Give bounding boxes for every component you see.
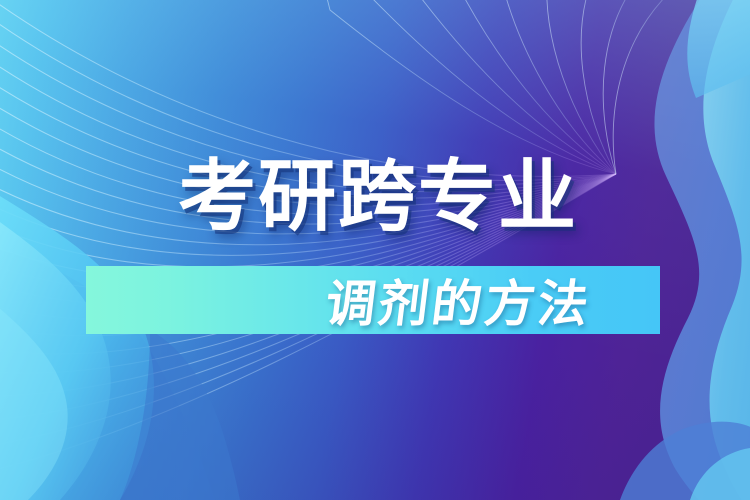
wave-svg bbox=[0, 0, 750, 500]
wave-decoration bbox=[0, 0, 750, 500]
promo-banner: 考研跨专业 调剂的方法 bbox=[0, 0, 750, 500]
banner-title: 考研跨专业 bbox=[0, 148, 750, 244]
right-wave-group bbox=[620, 0, 750, 500]
subtitle-text-wrapper: 调剂的方法 bbox=[82, 266, 664, 334]
banner-subtitle: 调剂的方法 bbox=[322, 264, 596, 336]
